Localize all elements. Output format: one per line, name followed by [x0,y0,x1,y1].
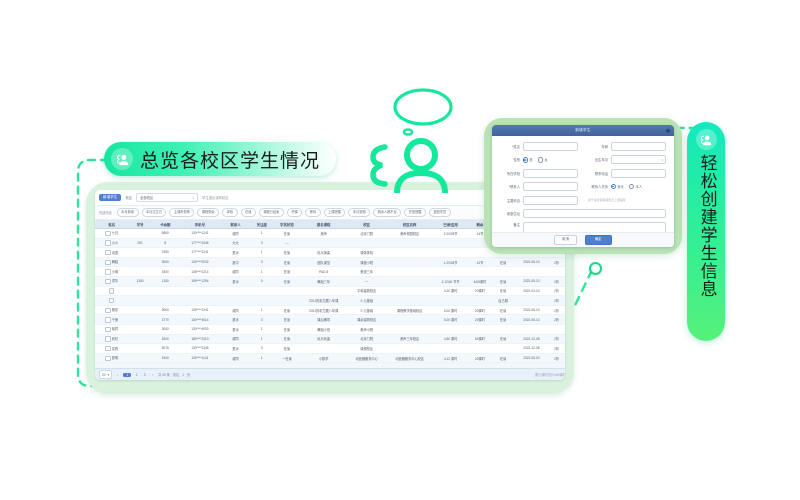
table-row[interactable]: 夏明5100130****1141戚同1一在读小数学动营器服务中心动营器服务中心… [95,353,565,363]
cell-progress: 4,50 课时 [433,334,469,344]
filter-chip[interactable]: 剩余人数不足 [373,208,401,217]
cell-phone: 139****1241 [179,305,221,315]
address-label: 家庭住址 [500,211,520,216]
cell-name [95,296,129,306]
table-row[interactable]: 重华11501150199****1254夏冰0在读舞蹈三年—2,12/40 节… [95,276,565,286]
cell-status: 在读 [273,315,300,325]
col-name[interactable]: 姓名 [95,220,129,229]
subject-label: 主要科目 [500,198,520,203]
cell-focus: 1 [250,248,273,258]
two-people-illustration [355,85,467,193]
chevron-down-icon: ▾ [193,196,195,200]
cell-remain: 20课时 [468,353,491,363]
filter-chip[interactable]: 课程剩余 [197,208,219,217]
radio-icon [629,184,634,189]
cell-contact: 戚同 [221,229,250,239]
col-id[interactable]: 学号 [129,220,152,229]
cell-progress: 5,00 课时 [433,315,469,325]
cell-id [129,286,152,296]
page-number[interactable]: 3 [142,373,147,377]
cell-campus_name [387,238,433,248]
cell-status [273,286,300,296]
cell-phone: 130****4000 [179,324,221,334]
age-field-group: 年龄 [588,142,666,151]
cell-date: 2022-03-10 [515,286,549,296]
connector-dot [589,262,602,275]
address-field-group: 家庭住址 [500,209,666,218]
cell-phone: 177****1241 [179,248,221,258]
cell-date: 2022-12-08 [515,344,549,354]
cell-id [129,344,152,354]
cell-discount: 2折 [548,334,565,344]
page-size-value: 20 [102,373,106,377]
phone-hint-text: 用于接收课程通知及上课提醒 [588,198,626,202]
cell-state: 在读 [491,353,514,363]
table-row[interactable]: 2021的机尤藏八年课少儿基础自己期2折 [95,296,565,306]
next-page-button[interactable]: › [150,373,155,377]
cell-focus: 0 [250,315,273,325]
table-row[interactable]: 平和建筑校区3,20 课时20课时在读2022-03-102折 [95,286,565,296]
cell-campus: 动营器服务中心 [347,353,387,363]
cell-name: 舞蹈 [95,257,129,267]
col-status[interactable]: 学员状态 [273,220,300,229]
cell-status: 在读 [273,248,300,258]
gender-radio-group: 男 女 [523,157,579,162]
cell-status [273,296,300,306]
extra-filter-text[interactable]: 学生退出或转校区 [202,195,228,200]
cell-course: 课后辅导 [301,315,347,325]
cell-campus: — [347,276,387,286]
cell-phone [179,296,221,306]
prev-page-button[interactable]: ‹ [115,373,120,377]
contact-label: *联系人 [500,184,520,189]
cell-campus_name: 美声三年校区 [387,334,433,344]
form-row: 家庭住址 [500,209,666,218]
cell-campus_name: 课程教学基础校区 [387,305,433,315]
cell-remain: 20课时 [468,305,491,315]
cell-course [301,344,347,354]
cell-campus_name [387,286,433,296]
cell-id [129,315,152,325]
row-checkbox[interactable] [109,298,114,303]
col-focus[interactable]: 关注度 [250,220,273,229]
school-field-group: 所在学校 [500,169,578,178]
cell-balance: 1150 [152,276,179,286]
phone-hint-group: 用于接收课程通知及上课提醒 [588,198,666,202]
cell-id [129,248,152,258]
cell-state: 在读 [491,276,514,286]
age-input[interactable] [611,142,667,151]
filter-chip[interactable]: 等待 [305,208,320,217]
cell-contact: 夏中 [221,257,250,267]
close-icon[interactable] [666,128,671,133]
jump-unit: 页 [187,372,190,377]
filter-chip[interactable]: 停课 [287,208,302,217]
phone-label: 联系电话 [588,171,608,176]
cell-campus: 少儿基础 [347,296,387,306]
gender-radio-female[interactable]: 女 [538,157,548,162]
filter-chip[interactable]: 主课考勤率 [169,208,194,217]
cell-id [129,257,152,267]
cell-discount: 2折 [548,315,565,325]
filter-chip[interactable]: 开班提醒 [404,208,426,217]
cell-id [129,353,152,363]
cell-status: — [273,238,300,248]
cell-contact [221,286,250,296]
cell-discount [548,267,565,277]
cell-progress [433,296,469,306]
cell-balance: 3000 [152,257,179,267]
cell-remain [468,248,491,258]
table-row[interactable]: 彩虹5200180****2313戚同1在读民乐戏曲北京门院美声三年校区4,50… [95,334,565,344]
cell-focus: 0 [250,238,273,248]
cell-focus: 1 [250,267,273,277]
name-field-group: *姓名 [500,142,578,151]
name-input[interactable] [523,142,579,151]
add-student-button[interactable]: 新增学生 [99,194,121,201]
cell-balance: 5200 [152,334,179,344]
table-row[interactable]: 小明5300138****2214戚同1在读PAD-5美漫三年 [95,267,565,277]
cell-remain [468,344,491,354]
cell-focus: 1 [250,353,273,363]
cell-phone: 130****1241 [179,229,221,239]
cell-course [301,286,347,296]
col-phone[interactable]: 手机号 [179,220,221,229]
cell-state: 在读 [491,286,514,296]
age-label: 年龄 [588,144,608,149]
cell-progress: 2,00/28节 [433,229,469,239]
cell-date: 2022-05-10 [515,276,549,286]
cell-campus_name [387,257,433,267]
cell-progress [433,344,469,354]
cell-campus_name [387,276,433,286]
relation-radio-self[interactable]: 本人 [629,184,642,189]
cell-name: 夏明 [95,353,129,363]
cell-focus: 0 [250,257,273,267]
right-pill-label: 轻松创建学生信息 [687,122,725,341]
cell-campus: 平和建筑校区 [347,286,387,296]
cell-remain: 20课时 [468,286,491,296]
jump-label: 前往 [173,372,179,377]
table-row[interactable]: 实践5076130****2345夏冰0在读课程校区2022-12-082折 [95,344,565,354]
filter-chip[interactable]: 本月到期 [348,208,370,217]
cell-state: 在读 [491,305,514,315]
cell-discount: 2折 [548,276,565,286]
cell-progress [433,324,469,334]
left-pill-text: 总览各校区学生情况 [140,146,320,173]
cell-state [491,324,514,334]
cell-date: 2022-06-00 [515,353,549,363]
cell-date [515,267,549,277]
gender-radio-male[interactable]: 男 [523,157,533,162]
subject-input[interactable] [523,196,579,205]
row-checkbox[interactable] [109,288,114,293]
relation-label: 联系人关系 [588,184,608,189]
cell-focus: 1 [250,229,273,239]
cell-focus: 0 [250,276,273,286]
cell-campus [347,238,387,248]
cell-id [129,229,152,239]
dialog-title-bar: 新增学生 [492,125,674,136]
cell-name: 七月 [95,229,129,239]
cell-course: 舞蹈小班 [301,324,347,334]
chip-row-label: 快捷筛选 [99,210,112,215]
page-number[interactable]: 2 [134,373,139,377]
cell-status: 在读 [273,276,300,286]
cell-name: 千美 [95,315,129,325]
cell-phone: 180****2313 [179,334,221,344]
cell-id: 1150 [129,276,152,286]
calendar-icon: ▾ [662,158,663,162]
cell-balance: 5300 [152,267,179,277]
cell-status: 一在读 [273,353,300,363]
cell-discount: 2折 [548,296,565,306]
campus-filter-label: 校区 [125,195,132,200]
cell-campus: 课余建筑校区 [347,315,387,325]
cell-contact: 夏冰 [221,248,250,258]
name-label: *姓名 [500,144,520,149]
cell-campus: 美漫三年 [347,267,387,277]
cell-focus [250,286,273,296]
cell-remain: 54课时 [468,334,491,344]
school-label: 所在学校 [500,171,520,176]
filter-chip[interactable]: 上课提醒 [324,208,346,217]
page-number[interactable]: 1 [123,373,131,377]
cell-discount: 2折 [548,353,565,363]
cell-id [129,267,152,277]
school-input[interactable] [523,169,579,178]
cell-contact: 夏冰 [221,344,250,354]
form-row: *联系人 联系人关系 家长 本人 [500,182,666,191]
cell-campus: 课体体验 [347,248,387,258]
cell-discount: 2折 [548,257,565,267]
pagination-info: 共 65 条 [158,372,170,377]
cell-contact: 大大 [221,238,250,248]
contact-input[interactable] [523,182,579,191]
people-icon [111,148,133,170]
relation-option-label: 家长 [617,184,623,189]
radio-selected-icon [523,157,528,162]
phone-field-group: 联系电话 [588,169,666,178]
col-balance[interactable]: 卡余额 [152,220,179,229]
cell-progress [433,267,469,277]
cell-remain [468,296,491,306]
cell-state [491,344,514,354]
cell-balance: 3000 [152,324,179,334]
cell-balance [152,296,179,306]
dialog-green-frame: 新增学生 *姓名 年龄 性别 [484,118,682,254]
cell-contact: 夏冰 [221,276,250,286]
cell-course: 美声 [301,229,347,239]
filter-chip[interactable]: 本月过生日 [142,208,167,217]
cell-campus: 北京门院 [347,229,387,239]
cell-status: 在读 [273,257,300,267]
relation-radio-parent[interactable]: 家长 [611,184,624,189]
filter-chip[interactable]: 本月新增 [117,208,139,217]
campus-filter-select[interactable]: 全部校区 ▾ [136,193,198,202]
cell-state: 在读 [491,334,514,344]
cell-remain: 12节 [468,257,491,267]
cell-balance: 4770 [152,315,179,325]
relation-field-group: 联系人关系 家长 本人 [588,184,666,189]
filter-chip[interactable]: 体验 [222,208,237,217]
table-row[interactable]: 筱蕊5000139****1241戚同1在读2021的机尤藏八年课少儿基础课程教… [95,305,565,315]
add-student-dialog: 新增学生 *姓名 年龄 性别 [492,125,674,247]
cell-course: 2021的机尤藏八年课 [301,296,347,306]
cell-contact: 戚同 [221,334,250,344]
cell-campus_name: 美声校园校区 [387,229,433,239]
cell-discount: 2折 [548,305,565,315]
cell-name: 小明 [95,267,129,277]
cell-balance [152,286,179,296]
cell-progress: 4,12 课时 [433,353,469,363]
cell-course: 团队课堂 [301,257,347,267]
cell-date [515,324,549,334]
confirm-button[interactable]: 确定 [585,235,612,245]
cell-campus: 课程校区 [347,344,387,354]
cell-progress [433,248,469,258]
dialog-footer: 取消 确定 [492,232,674,247]
form-row: 主要科目 用于接收课程通知及上课提醒 [500,196,666,205]
gender-field-group: 性别 男 女 [500,157,578,162]
table-row[interactable]: 裕同3000130****4000夏冰1在读舞蹈小班美声小院 [95,324,565,334]
cell-date: 2022-06-10 [515,305,549,315]
cell-remain [468,267,491,277]
gender-option-label: 男 [529,157,532,162]
cell-contact: 戚同 [221,353,250,363]
cell-course: 舞蹈三年 [301,276,347,286]
radio-selected-icon [611,184,616,189]
cell-campus_name: 动营器服务中心校区 [387,353,433,363]
cell-discount: 2折 [548,344,565,354]
contact-field-group: *联系人 [500,182,578,191]
cell-progress: 5,00 课时 [433,305,469,315]
filter-chip[interactable]: 课程已结束 [259,208,284,217]
cell-name: 实践 [95,344,129,354]
cell-phone [179,286,221,296]
filter-chip[interactable]: 退班学员 [429,208,451,217]
cell-course: 2021的机尤藏八年课 [301,305,347,315]
filter-chip[interactable]: 在读 [241,208,256,217]
form-row: 所在学校 联系电话 [500,169,666,178]
cell-balance: 2280 [152,248,179,258]
cell-date: 2022-06-10 [515,315,549,325]
cell-name: 小小 [95,238,129,248]
cell-name [95,286,129,296]
page-size-select[interactable]: 20 ▾ [99,370,112,379]
cell-remain [468,324,491,334]
cell-remain: 20课时 [468,315,491,325]
phone-input[interactable] [611,169,667,178]
cell-progress: 2,12/40 节节 [433,276,469,286]
col-progress[interactable]: 已读/应用 [433,220,469,229]
cell-focus: 1 [250,324,273,334]
dialog-body: *姓名 年龄 性别 男 [492,136,674,247]
pagination-bar: 20 ▾ ‹ 1 2 3 › 共 65 条 前往 1 页 累计课时总计465课时… [95,368,565,380]
cell-name: 裕同 [95,324,129,334]
cell-date: 2022-06-10 [515,257,549,267]
form-row: *姓名 年龄 [500,142,666,151]
col-campus-name[interactable]: 校区名称 [387,220,433,229]
cell-contact: 夏冰 [221,315,250,325]
cell-phone: 130****2032 [179,257,221,267]
cell-course: 民乐演奏 [301,248,347,258]
cell-focus: 1 [250,305,273,315]
promo-graphic: 新增学生 校区 全部校区 ▾ 学生退出或转校区 请输入关键字 快捷筛选 本月新增… [0,0,800,500]
cell-status: 在读 [273,344,300,354]
cell-phone: 130****1141 [179,353,221,363]
cancel-button[interactable]: 取消 [554,235,577,245]
cell-discount: 2折 [548,286,565,296]
cell-name: 筱蕊 [95,305,129,315]
address-input[interactable] [523,209,667,218]
cell-id [129,296,152,306]
table-row[interactable]: 千美4770130****4014夏冰0在读课后辅导课余建筑校区5,00 课时2… [95,315,565,325]
cell-name: 诗语 [95,248,129,258]
cell-focus: 1 [250,334,273,344]
people-icon [696,129,717,150]
cell-status: 在读 [273,305,300,315]
cell-phone: 130****2345 [179,344,221,354]
col-contact[interactable]: 联系人 [221,220,250,229]
cell-state [491,267,514,277]
cell-campus: 少儿基础 [347,305,387,315]
cell-remain: 44/5课时 [468,276,491,286]
campus-filter-value: 全部校区 [140,195,153,200]
cell-progress [433,238,469,248]
cell-status: 在读 [273,334,300,344]
cell-status: 在读 [273,267,300,277]
table-row[interactable]: 舞蹈3000130****2032夏中0在读团队课堂课程小院1,20/28节12… [95,257,565,267]
cell-discount [548,324,565,334]
col-course[interactable]: 报名课程 [301,220,347,229]
cell-campus_name [387,248,433,258]
cell-course [301,238,347,248]
cell-id [129,305,152,315]
cell-phone: 138****2214 [179,267,221,277]
cell-campus_name [387,267,433,277]
cell-contact: 戚同 [221,267,250,277]
cell-progress: 3,20 课时 [433,286,469,296]
dialog-title: 新增学生 [575,128,591,133]
cell-campus_name [387,344,433,354]
cell-state: 自己期 [491,296,514,306]
cell-course: 民乐戏曲 [301,334,347,344]
form-row: 性别 男 女 出生年月 [500,155,666,164]
cell-balance: 5800 [152,229,179,239]
birthday-label: 出生年月 [588,157,608,162]
right-pill-text: 轻松创建学生信息 [697,154,714,298]
birthday-select[interactable]: ▾ [611,155,667,164]
cell-balance: 8 [152,238,179,248]
cell-state: 在读 [491,257,514,267]
cell-phone: 177****1046 [179,238,221,248]
relation-option-label: 本人 [636,184,642,189]
cell-course: PAD-5 [301,267,347,277]
subject-field-group: 主要科目 [500,196,578,205]
relation-radio-group: 家长 本人 [611,184,667,189]
left-pill-label: 总览各校区学生情况 [104,142,336,176]
jump-input[interactable]: 1 [182,373,184,377]
cell-date: 2022-12-08 [515,334,549,344]
cell-balance: 5000 [152,305,179,315]
col-campus[interactable]: 校区 [347,220,387,229]
cell-name: 重华 [95,276,129,286]
cell-focus [250,296,273,306]
cell-contact: 戚同 [221,305,250,315]
remark-label: 备注 [500,222,520,227]
cell-campus_name [387,315,433,325]
